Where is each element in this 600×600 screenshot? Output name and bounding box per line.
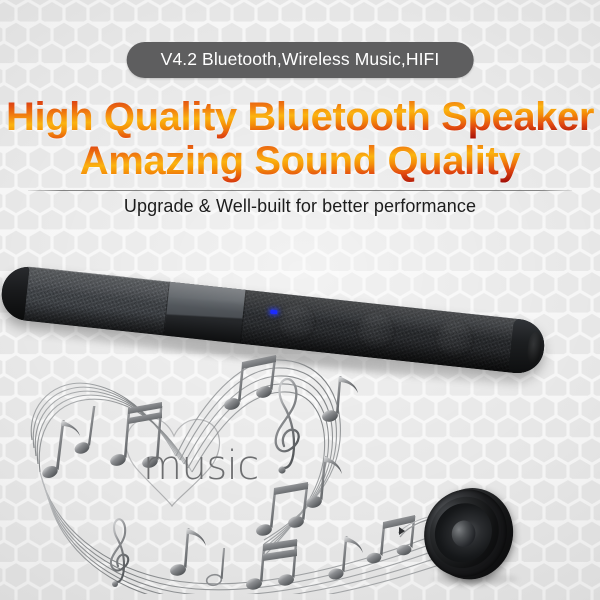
product-advertisement-banner: V4.2 Bluetooth,Wireless Music,HIFI High … <box>0 0 600 600</box>
treble-clef-dot <box>278 466 285 473</box>
header-divider <box>28 190 572 191</box>
power-led-icon <box>270 310 277 314</box>
staff-lines-lower-sweep <box>40 472 448 594</box>
feature-badge: V4.2 Bluetooth,Wireless Music,HIFI <box>127 42 474 78</box>
subtitle-text: Upgrade & Well-built for better performa… <box>0 196 600 217</box>
treble-clef-icon-bottom <box>111 519 128 582</box>
music-wordmark: music <box>143 443 259 489</box>
treble-clef-dot <box>112 581 118 587</box>
headline-line-2: Amazing Sound Quality <box>0 140 600 183</box>
headline-line-1: High Quality Bluetooth Speaker <box>0 96 600 139</box>
headline-group: High Quality Bluetooth Speaker Amazing S… <box>0 96 600 183</box>
